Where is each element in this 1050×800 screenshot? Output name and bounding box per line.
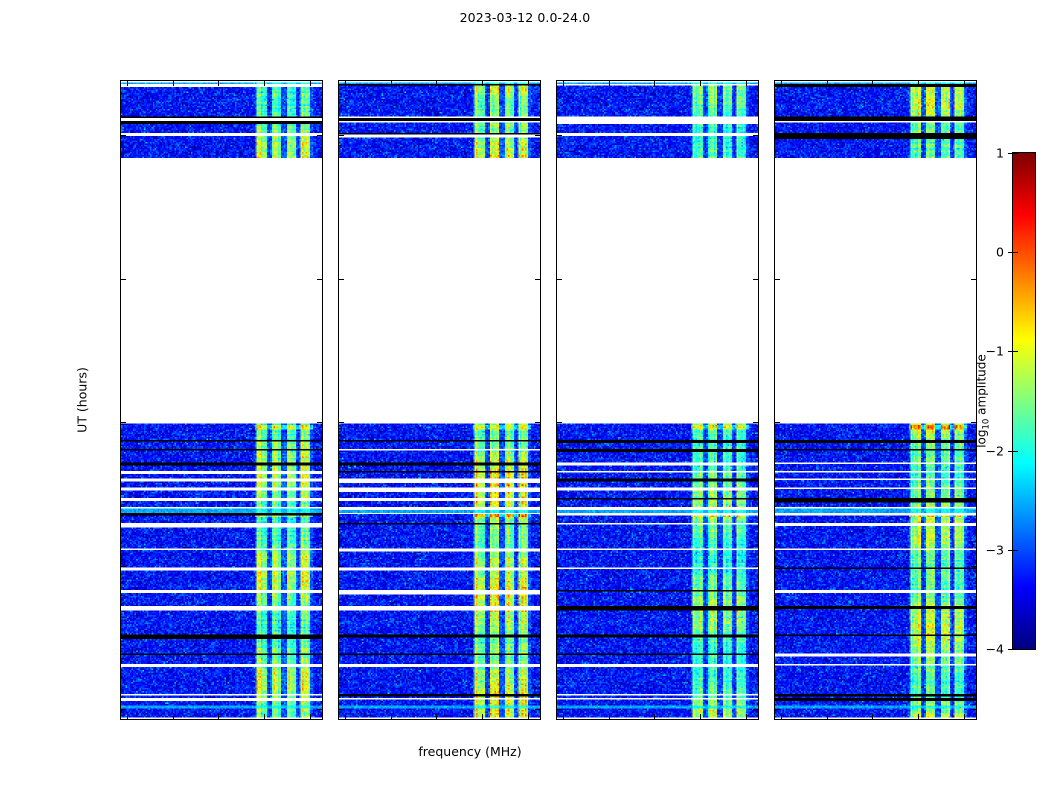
y-tick-right: [535, 566, 541, 567]
spectrogram-yx: [775, 81, 976, 719]
x-tick-top: [127, 80, 128, 86]
colorbar-tick-inner: [1013, 153, 1018, 154]
colorbar-tick-inner: [1013, 550, 1018, 551]
x-tick: [264, 714, 265, 720]
y-tick-right: [535, 135, 541, 136]
panel-yy[interactable]: YY, V7*V12=EA24*EA1005101520320335350365…: [338, 80, 541, 720]
x-tick: [964, 714, 965, 720]
x-tick: [746, 714, 747, 720]
y-tick: [556, 566, 562, 567]
x-tick-top: [218, 80, 219, 86]
x-tick-top: [872, 80, 873, 86]
x-tick: [127, 714, 128, 720]
y-tick: [120, 566, 126, 567]
x-tick: [310, 714, 311, 720]
y-tick-right: [753, 279, 759, 280]
y-tick-right: [317, 135, 323, 136]
y-tick: [774, 135, 780, 136]
colorbar-tick-inner: [1013, 351, 1018, 352]
y-tick-right: [971, 709, 977, 710]
x-tick-top: [173, 80, 174, 86]
colorbar-tick-inner: [1013, 252, 1018, 253]
y-tick-right: [971, 566, 977, 567]
y-tick: [120, 135, 126, 136]
colorbar-tick-label: 0: [996, 245, 1004, 260]
panel-xx[interactable]: XX, V7*V12=EA24*EA1005101520320335350365…: [120, 80, 323, 720]
x-tick: [218, 714, 219, 720]
x-tick: [391, 714, 392, 720]
x-tick: [563, 714, 564, 720]
x-tick: [781, 714, 782, 720]
y-tick-right: [535, 422, 541, 423]
x-tick: [482, 714, 483, 720]
y-tick: [120, 709, 126, 710]
x-tick-top: [746, 80, 747, 86]
x-tick: [918, 714, 919, 720]
x-axis-label: frequency (MHz): [0, 744, 940, 759]
x-tick-top: [436, 80, 437, 86]
y-tick-right: [753, 709, 759, 710]
y-tick: [338, 709, 344, 710]
colorbar-tick-inner: [1013, 649, 1018, 650]
colorbar-tick-label: −3: [986, 542, 1004, 557]
y-tick: [774, 279, 780, 280]
colorbar-tick-label: −4: [986, 642, 1004, 657]
x-tick-top: [827, 80, 828, 86]
panel-xy[interactable]: XY, V7*V12=EA24*EA1005101520320335350365…: [556, 80, 759, 720]
y-tick-right: [535, 279, 541, 280]
colorbar-tick-label: 1: [996, 146, 1004, 161]
y-tick: [338, 135, 344, 136]
x-tick-top: [563, 80, 564, 86]
y-tick-right: [971, 135, 977, 136]
x-tick: [436, 714, 437, 720]
y-tick: [774, 709, 780, 710]
x-tick: [872, 714, 873, 720]
x-tick-top: [391, 80, 392, 86]
x-tick-top: [345, 80, 346, 86]
x-tick-top: [918, 80, 919, 86]
spectrogram-xx: [121, 81, 322, 719]
x-tick-top: [609, 80, 610, 86]
y-tick-right: [317, 709, 323, 710]
x-tick: [528, 714, 529, 720]
y-tick-right: [753, 135, 759, 136]
colorbar-label-sub: 10: [982, 419, 992, 430]
colorbar-gradient: [1013, 153, 1035, 649]
x-tick-top: [264, 80, 265, 86]
colorbar-tick-inner: [1013, 451, 1018, 452]
spectrogram-yy: [339, 81, 540, 719]
x-tick-top: [310, 80, 311, 86]
y-tick-right: [753, 566, 759, 567]
y-tick: [774, 422, 780, 423]
panel-yx[interactable]: YX, V7*V12=EA24*EA1005101520320335350365…: [774, 80, 977, 720]
x-tick-top: [700, 80, 701, 86]
y-tick: [556, 709, 562, 710]
colorbar[interactable]: −4−3−2−101: [1012, 152, 1036, 650]
y-tick-right: [317, 279, 323, 280]
x-tick-top: [781, 80, 782, 86]
x-tick-top: [528, 80, 529, 86]
x-tick: [700, 714, 701, 720]
y-tick: [120, 279, 126, 280]
x-tick-top: [964, 80, 965, 86]
y-tick: [556, 135, 562, 136]
y-tick-right: [317, 566, 323, 567]
x-tick-top: [482, 80, 483, 86]
y-tick: [556, 279, 562, 280]
x-tick: [345, 714, 346, 720]
y-tick: [556, 422, 562, 423]
x-tick: [173, 714, 174, 720]
x-tick: [827, 714, 828, 720]
x-tick: [609, 714, 610, 720]
y-tick-right: [753, 422, 759, 423]
colorbar-label-main: log: [974, 429, 988, 447]
figure-canvas: 2023-03-12 0.0-24.0 XX, V7*V12=EA24*EA10…: [0, 0, 1050, 800]
colorbar-label-tail: amplitude: [974, 354, 988, 418]
x-tick: [654, 714, 655, 720]
y-tick-right: [317, 422, 323, 423]
y-tick: [774, 566, 780, 567]
y-tick: [120, 422, 126, 423]
colorbar-label: log10 amplitude: [974, 354, 991, 448]
y-axis-label: UT (hours): [75, 367, 90, 433]
spectrogram-xy: [557, 81, 758, 719]
x-tick-top: [654, 80, 655, 86]
y-tick: [338, 279, 344, 280]
figure-suptitle: 2023-03-12 0.0-24.0: [0, 10, 1050, 25]
y-tick: [338, 566, 344, 567]
y-tick-right: [535, 709, 541, 710]
y-tick-right: [971, 279, 977, 280]
y-tick: [338, 422, 344, 423]
